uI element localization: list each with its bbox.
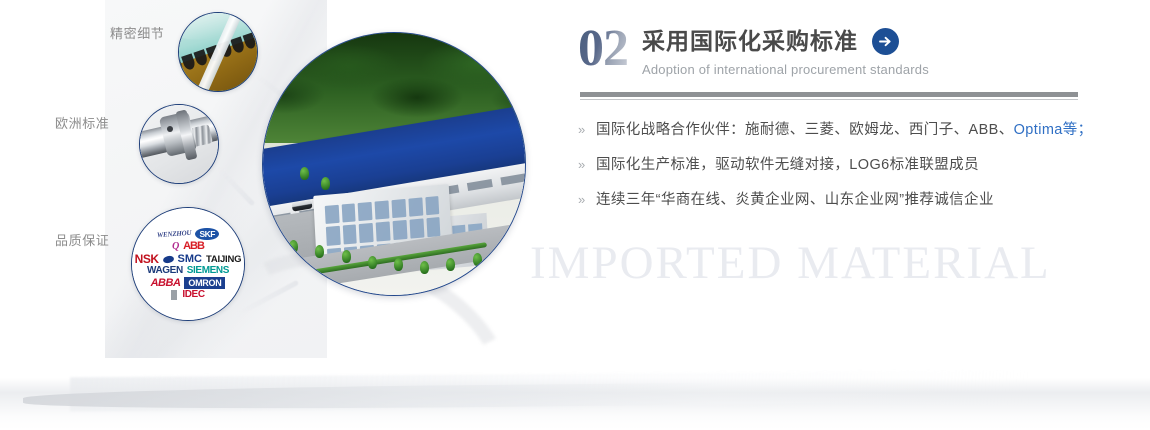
- content-panel: 02 采用国际化采购标准 Adoption of international p…: [578, 0, 1118, 430]
- label-precision-detail: 精密细节: [110, 23, 164, 42]
- list-item: » 连续三年“华商在线、炎黄企业网、山东企业网”推荐诚信企业: [578, 190, 1098, 210]
- chevron-double-right-icon: »: [578, 155, 596, 175]
- promo-banner: 精密细节 欧洲标准 品质保证 WENZHOU SKF: [0, 0, 1150, 430]
- factory-tree: [300, 167, 309, 180]
- brand-row: NSK SMC TAIJING: [134, 253, 242, 265]
- section-number: 02: [578, 24, 632, 74]
- list-item: » 国际化生产标准，驱动软件无缝对接，LOG6标准联盟成员: [578, 155, 1098, 175]
- factory-overview-photo: [262, 32, 526, 296]
- watermark-text: IMPORTED MATERIAL: [530, 236, 1051, 290]
- chevron-double-right-icon: »: [578, 120, 596, 140]
- factory-tree: [394, 258, 403, 271]
- list-item-text-main: 国际化战略合作伙伴：施耐德、三菱、欧姆龙、西门子、ABB、: [596, 122, 1014, 138]
- smc-dot-icon: [162, 255, 174, 264]
- brand-logo-skf: SKF: [195, 228, 219, 241]
- label-european-standard: 欧洲标准: [55, 113, 109, 132]
- label-quality-assurance: 品质保证: [55, 230, 109, 249]
- factory-tree: [368, 256, 377, 269]
- page-subtitle: Adoption of international procurement st…: [642, 62, 929, 77]
- list-item-text-tail: ；: [1078, 122, 1093, 138]
- feature-list: » 国际化战略合作伙伴：施耐德、三菱、欧姆龙、西门子、ABB、Optima等； …: [578, 120, 1098, 225]
- brand-logo-omron: OMRON: [184, 277, 225, 289]
- section-header: 02 采用国际化采购标准 Adoption of international p…: [578, 24, 929, 77]
- chevron-double-right-icon: »: [578, 190, 596, 210]
- factory-tree: [342, 250, 351, 263]
- idec-mark-icon: [171, 290, 177, 300]
- page-title: 采用国际化采购标准: [642, 26, 858, 56]
- list-item: » 国际化战略合作伙伴：施耐德、三菱、欧姆龙、西门子、ABB、Optima等；: [578, 120, 1098, 140]
- brand-logo-taijing: TAIJING: [206, 255, 241, 265]
- brand-logo-smc: SMC: [178, 254, 202, 265]
- brand-logo-abba: ABBA: [151, 278, 181, 289]
- brand-logo-q: Q: [172, 242, 179, 252]
- bottom-gradient-band: [0, 378, 1150, 430]
- brand-row: WENZHOU SKF: [134, 228, 242, 241]
- divider-thick: [580, 92, 1078, 97]
- brand-logo-wenzhou: WENZHOU: [157, 229, 192, 238]
- factory-tree: [289, 240, 298, 253]
- brand-row: Q ABB: [134, 241, 242, 252]
- brand-logo-nsk: NSK: [135, 253, 159, 265]
- factory-tree: [473, 253, 482, 266]
- precision-detail-photo: [178, 12, 258, 92]
- brand-logo-wagen: WAGEN: [147, 266, 183, 276]
- brand-logo-abb: ABB: [183, 241, 204, 252]
- divider-thin: [580, 99, 1078, 100]
- brand-row: IDEC: [134, 290, 242, 300]
- european-standard-photo: [139, 104, 219, 184]
- gear-teeth-illustration: [179, 13, 257, 91]
- title-block: 采用国际化采购标准 Adoption of international proc…: [642, 24, 929, 77]
- list-item-text: 国际化战略合作伙伴：施耐德、三菱、欧姆龙、西门子、ABB、Optima等；: [596, 120, 1093, 140]
- factory-tree: [321, 177, 330, 190]
- brand-row: ABBA OMRON: [134, 277, 242, 289]
- factory-tree: [420, 261, 429, 274]
- brand-logo-siemens: SIEMENS: [187, 266, 229, 276]
- list-item-text-main: 国际化生产标准，驱动软件无缝对接，LOG6标准联盟成员: [596, 157, 979, 173]
- list-item-text: 连续三年“华商在线、炎黄企业网、山东企业网”推荐诚信企业: [596, 190, 994, 210]
- quality-brands-photo: WENZHOU SKF Q ABB NSK SMC TAIJING WAGEN …: [131, 207, 245, 321]
- arrow-right-circle-icon[interactable]: [872, 28, 899, 55]
- brand-row: WAGEN SIEMENS: [134, 266, 242, 276]
- list-item-highlight: Optima等: [1014, 122, 1078, 138]
- list-item-text-main: 连续三年“华商在线、炎黄企业网、山东企业网”推荐诚信企业: [596, 192, 994, 208]
- title-line: 采用国际化采购标准: [642, 26, 929, 56]
- list-item-text: 国际化生产标准，驱动软件无缝对接，LOG6标准联盟成员: [596, 155, 979, 175]
- brand-logo-idec: IDEC: [182, 290, 204, 300]
- ballscrew-hole: [167, 126, 173, 132]
- brand-logo-grid: WENZHOU SKF Q ABB NSK SMC TAIJING WAGEN …: [132, 208, 244, 320]
